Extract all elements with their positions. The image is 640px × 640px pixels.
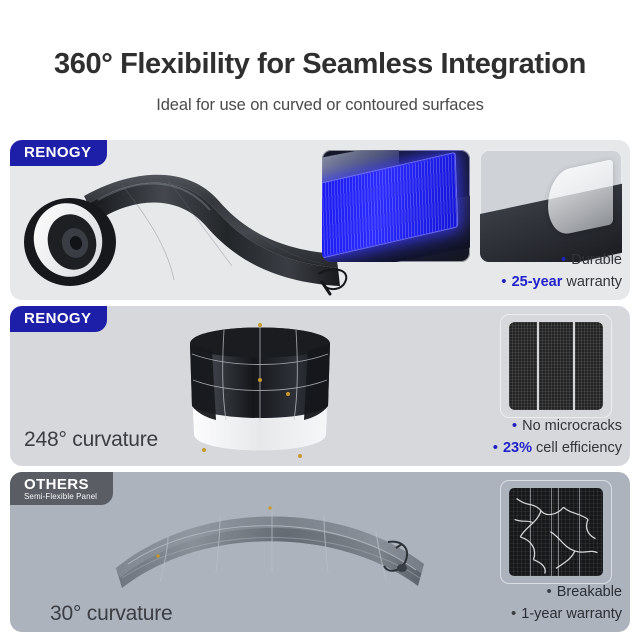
inset-blue-cell-closeup (322, 150, 470, 262)
brand-badge-label: RENOGY (24, 311, 91, 326)
bullet-dot: • (511, 605, 516, 622)
bullet-dot: • (512, 417, 517, 434)
inset-protective-film-closeup (480, 150, 622, 262)
brand-badge-sublabel: Semi-Flexible Panel (24, 493, 97, 501)
curvature-caption-30: 30° curvature (50, 602, 330, 626)
bullet-text: Durable (571, 252, 622, 268)
bullet-text: cell efficiency (532, 440, 622, 456)
curved-panel-30-svg (110, 490, 430, 602)
inset-intact-cell-closeup (500, 314, 612, 418)
bullet-text: 1-year warranty (521, 606, 622, 622)
curved-panel-248-illustration (160, 310, 360, 462)
bullet-dot: • (546, 583, 551, 600)
page-subtitle: Ideal for use on curved or contoured sur… (0, 96, 640, 115)
rolled-panel-illustration (18, 158, 358, 298)
crack-lines (509, 488, 603, 575)
bullet-dot: • (501, 273, 506, 290)
inset-cracked-cell-closeup (500, 480, 612, 584)
bullet-item: •1-year warranty (511, 603, 622, 626)
comparison-cards: RENOGY (10, 140, 630, 638)
brand-badge-label: RENOGY (24, 145, 91, 160)
bullet-highlight: 23% (503, 440, 532, 456)
brand-badge-label: OTHERS (24, 477, 97, 492)
panel-renogy-248: RENOGY (10, 306, 630, 466)
bullet-item: •23% cell efficiency (493, 437, 622, 460)
bullet-text: warranty (562, 274, 622, 290)
bullet-text: Breakable (557, 584, 622, 600)
panel-3-bullets: •Breakable •1-year warranty (511, 581, 622, 627)
bullet-dot: • (493, 439, 498, 456)
bullet-highlight: 25-year (512, 274, 563, 290)
brand-badge-renogy-2: RENOGY (10, 306, 107, 332)
curved-panel-30-illustration (110, 490, 430, 602)
bullet-text: No microcracks (522, 418, 622, 434)
brand-badge-others: OTHERS Semi-Flexible Panel (10, 472, 113, 505)
cell-texture (509, 322, 603, 409)
bullet-dot: • (561, 251, 566, 268)
panel-1-bullets: •Durable •25-year warranty (501, 249, 622, 295)
rolled-panel-svg (18, 158, 358, 298)
panel-2-bullets: •No microcracks •23% cell efficiency (493, 415, 622, 461)
infographic-root: 360° Flexibility for Seamless Integratio… (0, 0, 640, 640)
bullet-item: •Breakable (511, 581, 622, 604)
bullet-item: •25-year warranty (501, 271, 622, 294)
header: 360° Flexibility for Seamless Integratio… (0, 0, 640, 115)
panel-others-30: OTHERS Semi-Flexible Panel (10, 472, 630, 632)
brand-badge-renogy: RENOGY (10, 140, 107, 166)
bullet-item: •No microcracks (493, 415, 622, 438)
page-title: 360° Flexibility for Seamless Integratio… (0, 48, 640, 80)
panel-renogy-360: RENOGY (10, 140, 630, 300)
cracked-cell-texture (509, 488, 603, 575)
bullet-item: •Durable (501, 249, 622, 272)
curved-panel-248-svg (160, 310, 360, 462)
